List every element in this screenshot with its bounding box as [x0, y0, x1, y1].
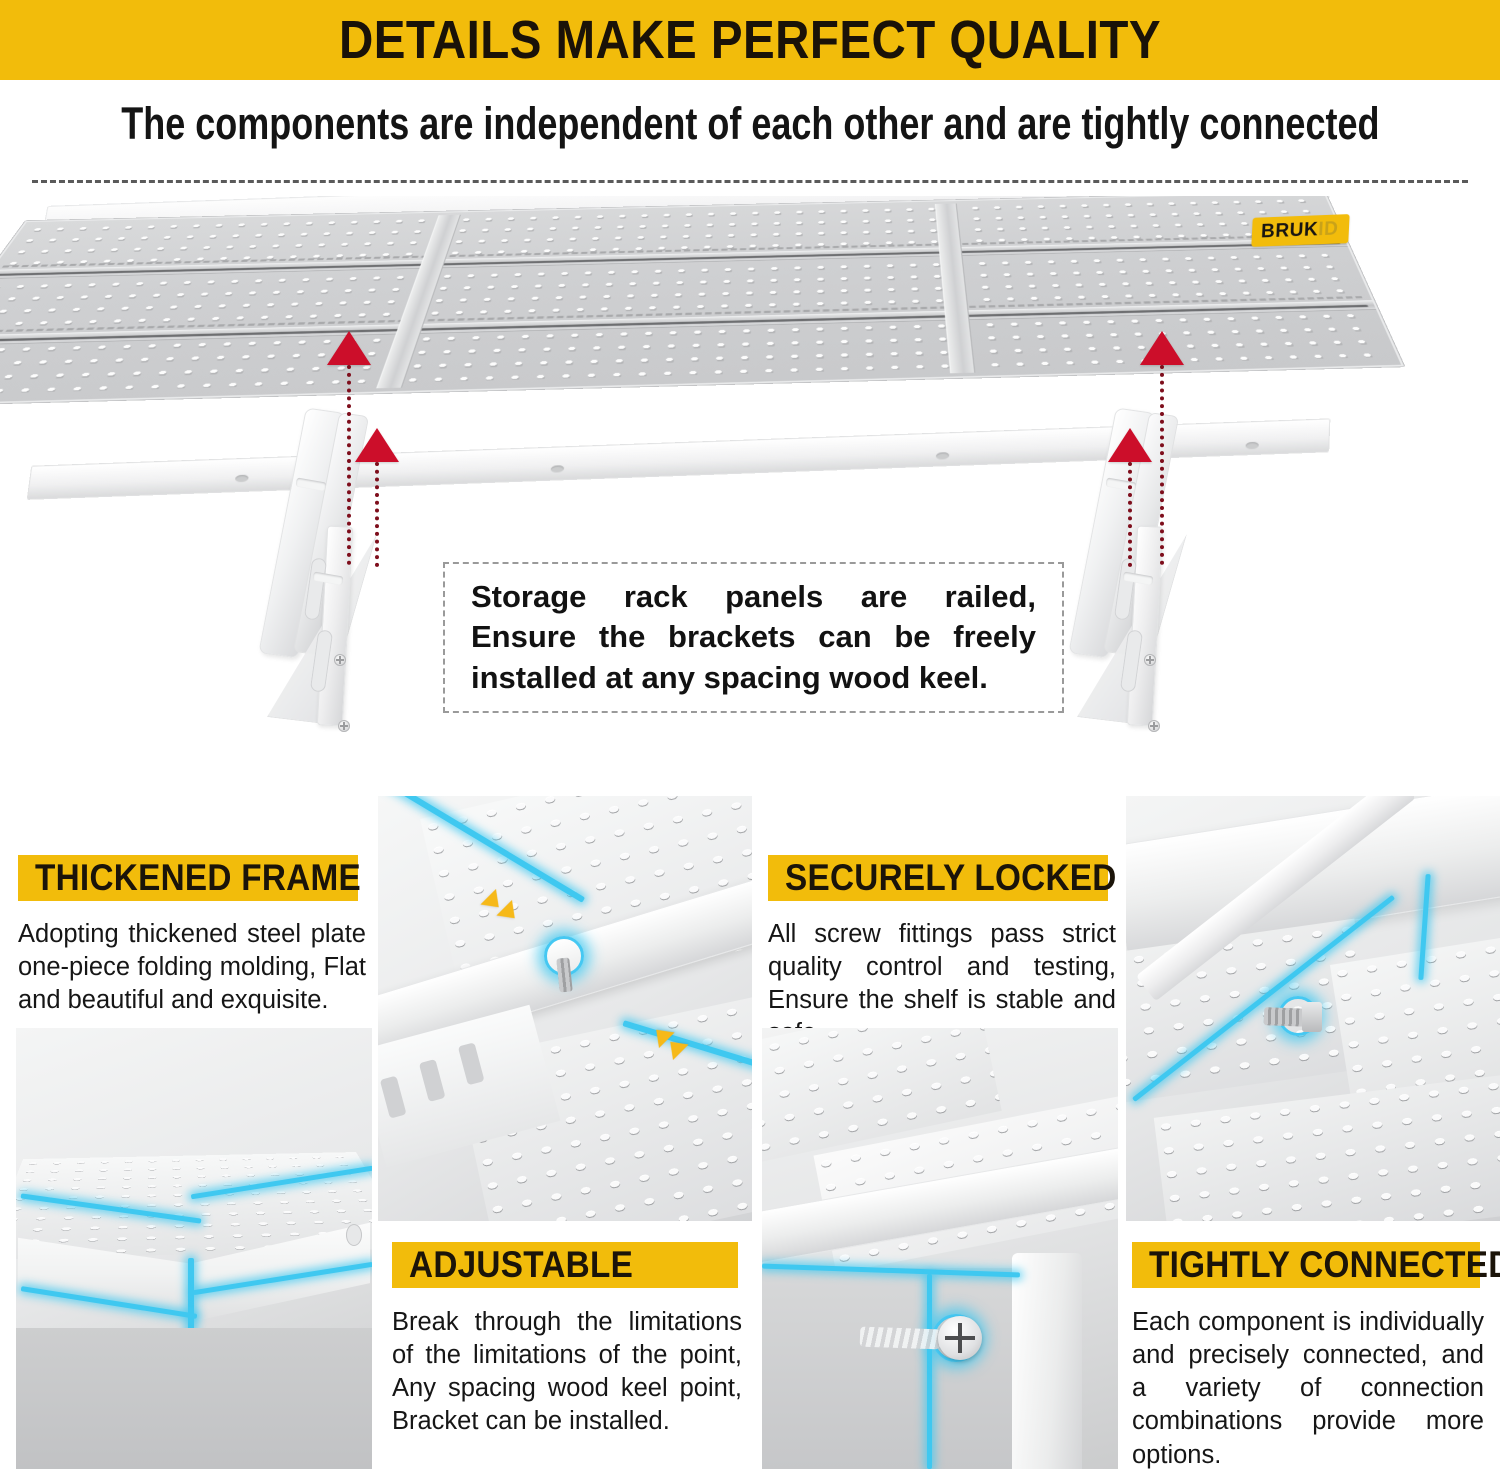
assembly-arrow-up [1140, 331, 1184, 365]
feature-title: ADJUSTABLE [409, 1244, 633, 1286]
feature-title-banner: SECURELY LOCKED [768, 855, 1108, 901]
callout-line-2: Ensure the brackets can be freely [471, 617, 1036, 657]
subtitle-area: The components are independent of each o… [0, 80, 1500, 168]
feature-title-banner: TIGHTLY CONNECTED [1132, 1242, 1480, 1288]
feature-title: TIGHTLY CONNECTED [1149, 1244, 1500, 1286]
photo-content [1126, 796, 1500, 1221]
page-title: DETAILS MAKE PERFECT QUALITY [339, 9, 1161, 71]
photo-content [762, 1028, 1118, 1469]
feature-body: Adopting thickened steel plate one-piece… [18, 918, 366, 1017]
screw-thread [860, 1327, 941, 1350]
feature-card-thickened-frame: THICKENED FRAME Adopting thickened steel… [0, 796, 372, 1469]
feature-body: Break through the limitations of the lim… [392, 1306, 742, 1439]
perforation-pattern [0, 197, 1386, 396]
panel-face [0, 196, 1404, 406]
bolt-head [1302, 1002, 1322, 1032]
feature-image-securely-locked [762, 1028, 1118, 1469]
bracket-screw [338, 720, 350, 732]
callout-line-1: Storage rack panels are railed, [471, 577, 1036, 617]
shelf-perforated-panel [0, 196, 1404, 406]
brand-logo-text: BRUKID [1261, 220, 1339, 242]
photo-content [378, 796, 752, 1221]
callout-line-3: installed at any spacing wood keel. [471, 658, 1036, 698]
brand-logo-badge: BRUKID [1251, 214, 1349, 247]
assembly-arrow-trail [1128, 462, 1132, 567]
assembly-arrow-up [327, 331, 371, 365]
feature-title: SECURELY LOCKED [785, 857, 1117, 899]
assembly-arrow-trail [375, 462, 379, 567]
feature-grid: THICKENED FRAME Adopting thickened steel… [0, 796, 1500, 1469]
brand-name-dim: ID [1318, 219, 1339, 241]
feature-image-adjustable [378, 796, 752, 1221]
feature-title: THICKENED FRAME [35, 857, 361, 899]
feature-card-tightly-connected: TIGHTLY CONNECTED Each component is indi… [1126, 796, 1500, 1469]
feature-image-thickened-frame [16, 1028, 372, 1469]
feature-card-adjustable: ADJUSTABLE Break through the limitations… [378, 796, 752, 1469]
assembly-arrow-up [355, 428, 399, 462]
highlight-edge [927, 1274, 932, 1469]
infographic-page: DETAILS MAKE PERFECT QUALITY The compone… [0, 0, 1500, 1469]
assembly-arrow-trail [347, 365, 351, 565]
feature-title-banner: ADJUSTABLE [392, 1242, 738, 1288]
feature-title-banner: THICKENED FRAME [18, 855, 358, 901]
feature-image-tightly-connected [1126, 796, 1500, 1221]
bracket-screw [1148, 720, 1160, 732]
page-subtitle: The components are independent of each o… [121, 98, 1379, 150]
bracket-post [1012, 1253, 1082, 1469]
side-hole [346, 1224, 362, 1246]
feature-card-securely-locked: SECURELY LOCKED All screw fittings pass … [756, 796, 1128, 1469]
photo-content [16, 1028, 372, 1469]
callout-text: Storage rack panels are railed, Ensure t… [471, 577, 1036, 698]
brand-name-bold: BRUK [1261, 219, 1319, 242]
assembly-arrow-up [1108, 428, 1152, 462]
bracket-screw [334, 654, 346, 666]
hero-product-scene: BRUKID [0, 196, 1500, 796]
bracket-screw [1144, 654, 1156, 666]
screw-head [938, 1316, 982, 1360]
callout-box: Storage rack panels are railed, Ensure t… [443, 562, 1064, 713]
header-banner: DETAILS MAKE PERFECT QUALITY [0, 0, 1500, 80]
dashed-divider [32, 180, 1468, 183]
feature-body: Each component is individually and preci… [1132, 1306, 1484, 1469]
assembly-arrow-trail [1160, 365, 1164, 565]
